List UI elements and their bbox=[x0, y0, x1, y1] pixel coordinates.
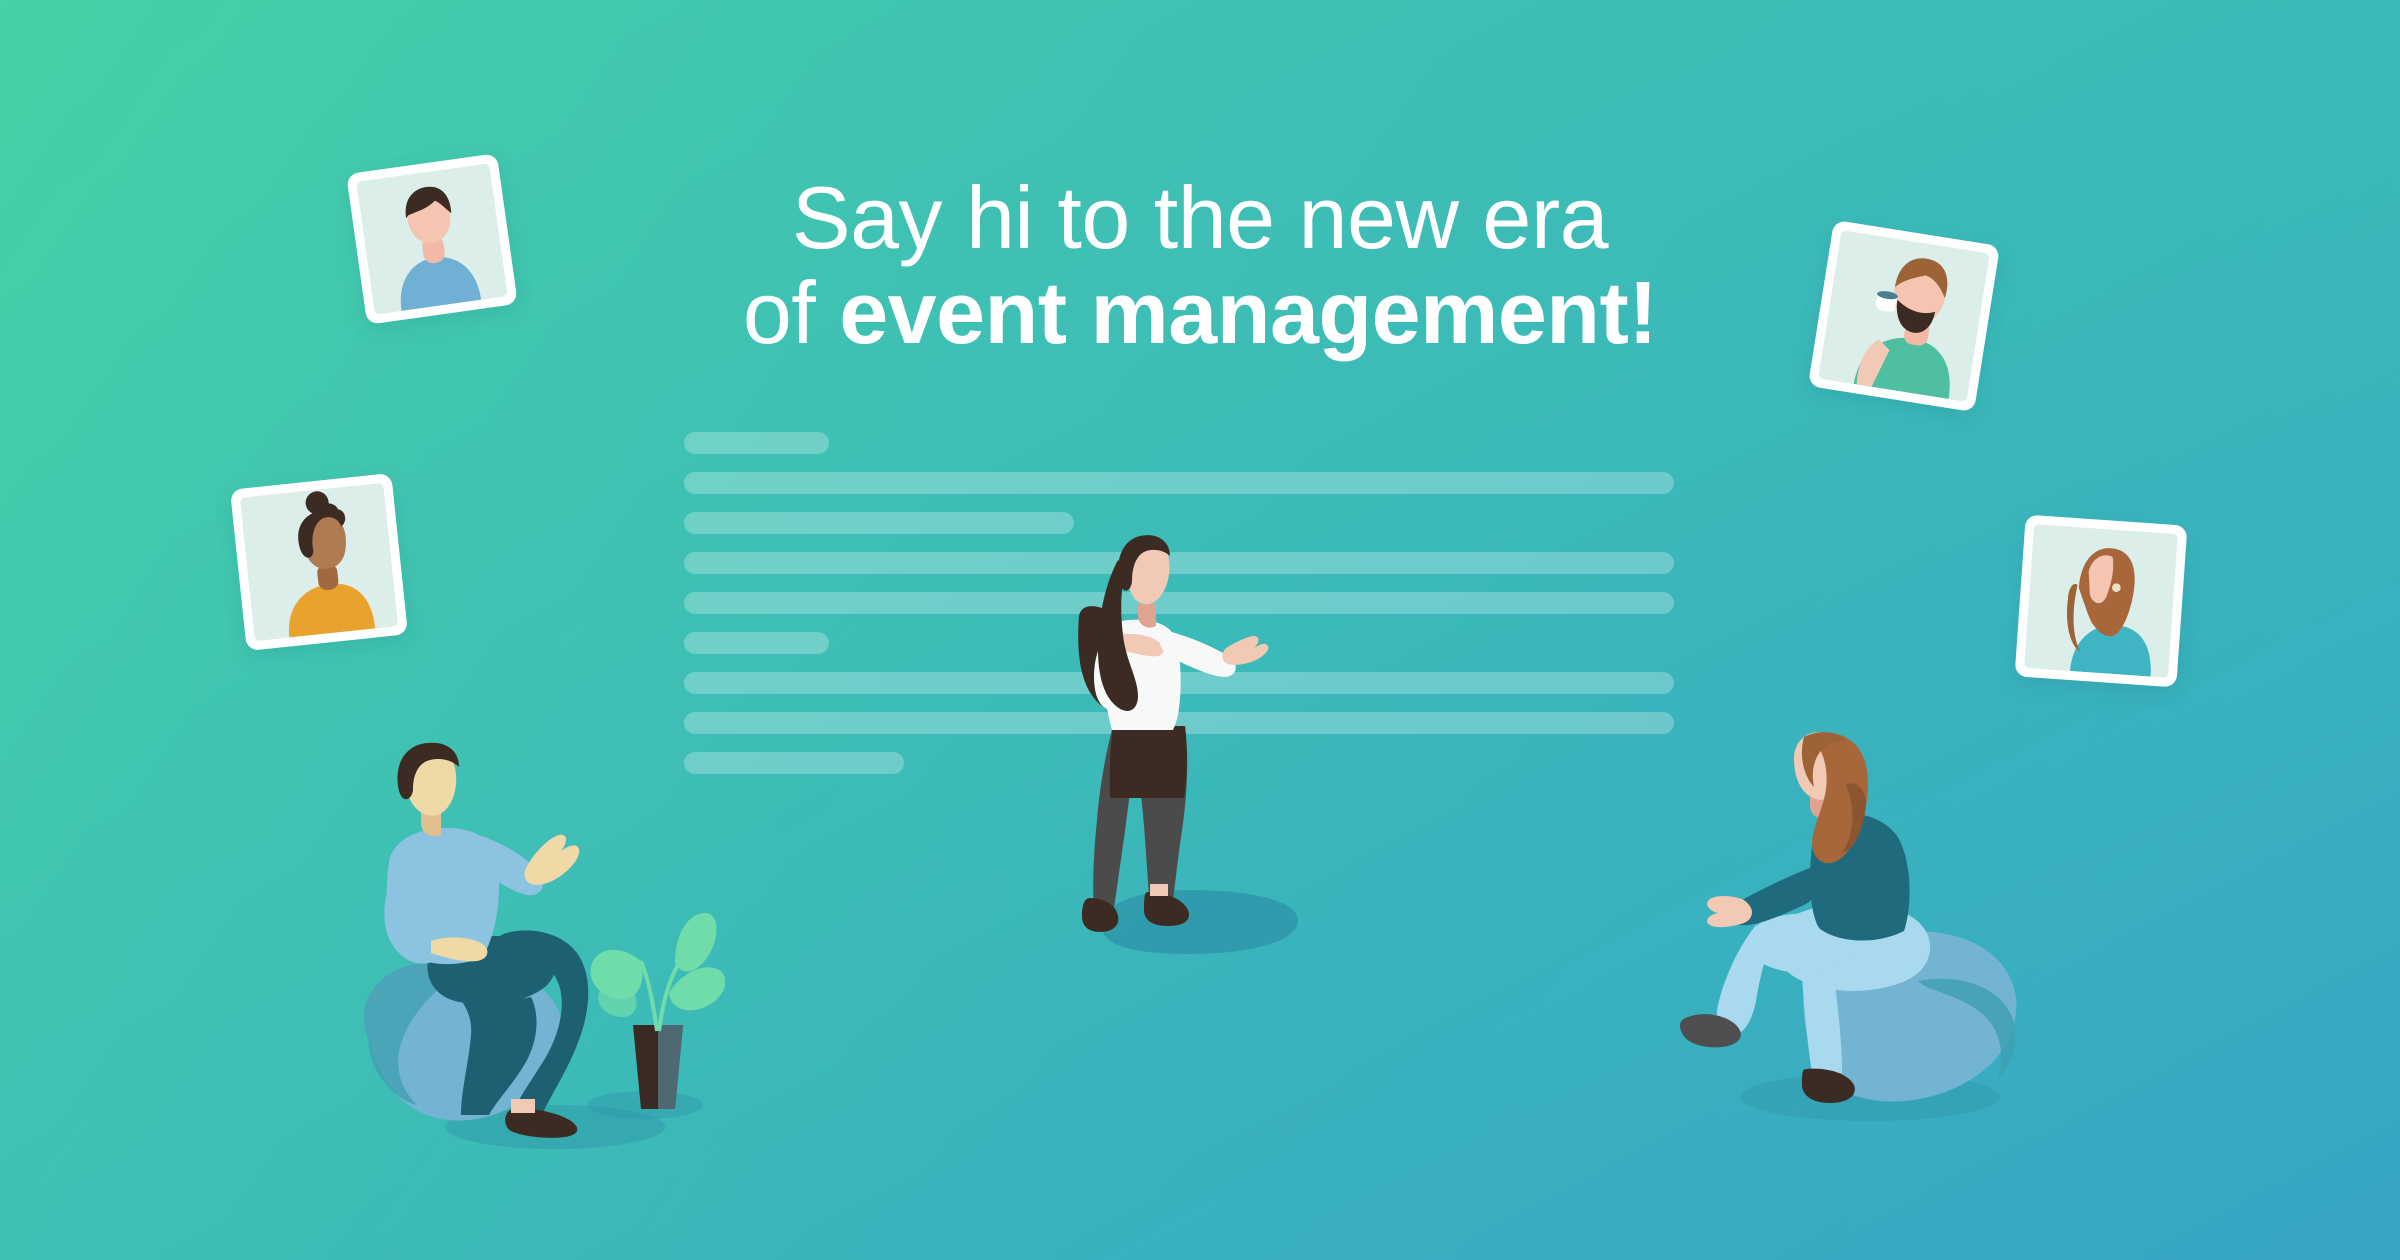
scene-seated-woman-relaxing bbox=[1660, 725, 2040, 1125]
scene-standing-woman-presenter bbox=[1040, 530, 1380, 970]
placeholder-line bbox=[684, 512, 1074, 534]
avatar-card-woman-teal-top[interactable] bbox=[2015, 515, 2188, 688]
figure-shadow bbox=[1102, 890, 1298, 954]
avatar bbox=[2024, 524, 2178, 678]
avatar bbox=[356, 163, 507, 314]
avatar-card-bearded-man-coffee[interactable] bbox=[1808, 220, 2000, 412]
scene-seated-man-waving bbox=[345, 735, 725, 1155]
avatar-card-man-blue-shirt[interactable] bbox=[346, 153, 518, 325]
placeholder-line bbox=[684, 432, 829, 454]
avatar-card-woman-orange-top[interactable] bbox=[230, 473, 408, 651]
placeholder-line bbox=[684, 472, 1674, 494]
hero-banner: Say hi to the new era of event managemen… bbox=[0, 0, 2400, 1260]
avatar bbox=[240, 483, 398, 641]
avatar bbox=[1818, 230, 1990, 402]
placeholder-line bbox=[684, 632, 829, 654]
